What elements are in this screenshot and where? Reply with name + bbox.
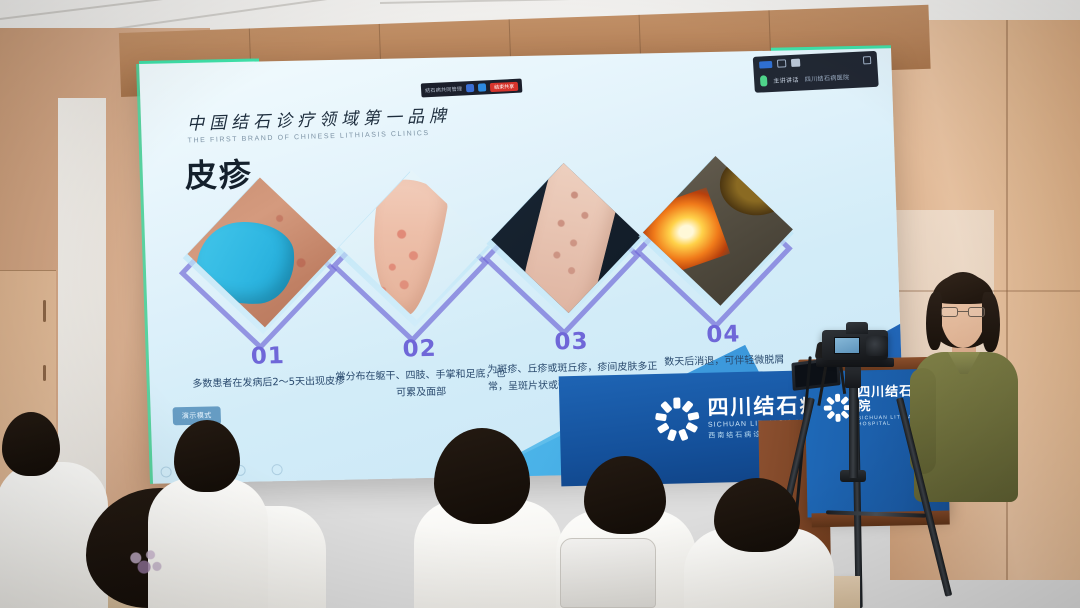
video-icon[interactable] [478, 83, 486, 91]
screen-icon[interactable] [271, 464, 282, 475]
pen-icon[interactable] [160, 466, 171, 477]
camera-icon[interactable] [777, 59, 786, 67]
camera-lcd-screen [834, 337, 860, 354]
item-caption-02: 常分布在躯干、四肢、手掌和足底，也可累及面部 [335, 366, 506, 403]
conference-panel[interactable]: 主讲讲话 四川结石病医院 [753, 51, 879, 93]
tripod-column [849, 386, 858, 478]
item-number-04: 04 [638, 320, 809, 350]
hair-ornament [122, 546, 168, 580]
rash-image-card-04 [643, 164, 798, 317]
door-handle[interactable] [43, 365, 46, 381]
hospital-logo-mark-icon [823, 391, 852, 424]
tripod-head[interactable] [845, 366, 861, 388]
presenter [908, 272, 1024, 502]
rash-image-card-03 [491, 171, 646, 324]
meeting-name-label: 四川结石病医院 [804, 72, 849, 83]
mic-icon[interactable] [759, 60, 772, 68]
item-number-03: 03 [486, 327, 657, 357]
item-number-01: 01 [182, 342, 353, 372]
presenter-hair-side [982, 292, 1000, 352]
camera-viewfinder [846, 322, 868, 334]
expand-icon[interactable] [863, 56, 871, 64]
participants-icon[interactable] [791, 59, 800, 67]
door-handle[interactable] [43, 300, 46, 322]
rash-photo-2 [339, 170, 489, 320]
audience-chair [560, 538, 656, 608]
rash-photo-3 [491, 163, 641, 313]
rash-image-card-02 [339, 179, 494, 332]
stop-share-button[interactable]: 结束共享 [490, 81, 519, 91]
hospital-logo-mark-icon [654, 397, 699, 442]
glasses-icon [941, 307, 985, 317]
item-number-02: 02 [334, 334, 505, 364]
camera-lens [866, 336, 888, 356]
share-icon[interactable] [466, 84, 474, 92]
rash-photo-1 [187, 178, 337, 328]
rash-image-card-01 [187, 186, 342, 339]
conference-room-scene: 中国结石诊疗领域第一品牌 The first brand of Chinese … [0, 0, 1080, 608]
presenter-hair-side [926, 292, 942, 350]
rash-photo-4 [643, 156, 793, 306]
active-speaker-label: 主讲讲话 [773, 75, 799, 85]
item-caption-01: 多数患者在发病后2～5天出现皮疹 [183, 374, 354, 394]
share-session-label: 结石病共同管理 [425, 85, 462, 94]
active-mic-icon [760, 75, 768, 86]
slide-brand-header: 中国结石诊疗领域第一品牌 The first brand of Chinese … [187, 102, 488, 143]
item-caption-04: 数天后消退，可伴轻微脱屑 [639, 352, 810, 372]
